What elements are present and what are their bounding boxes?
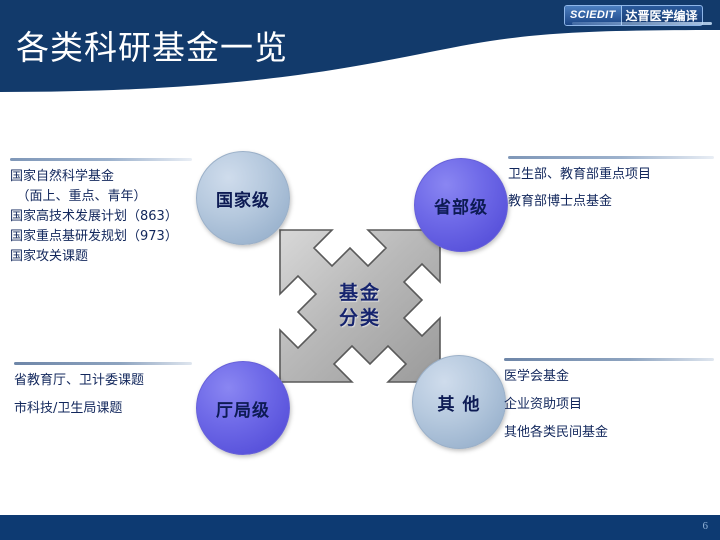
node-guojiaji[interactable]: 国家级 <box>196 151 290 245</box>
text-line: 国家自然科学基金 <box>10 167 192 187</box>
text-line: 国家重点基研发规划（973） <box>10 227 192 247</box>
text-line: 省教育厅、卫计委课题 <box>14 371 192 391</box>
node-qita-label: 其 他 <box>438 390 481 415</box>
text-line: 卫生部、教育部重点项目 <box>508 165 714 185</box>
text-line: 国家高技术发展计划（863） <box>10 207 192 227</box>
brand-logo: SCIEDIT 达晋医学编译 <box>564 2 714 28</box>
divider-top-left <box>10 158 192 161</box>
page-number: 6 <box>703 520 709 532</box>
divider-bottom-left <box>14 362 192 365</box>
text-line: 国家攻关课题 <box>10 247 192 267</box>
node-tingjuji-label: 厅局级 <box>216 396 270 421</box>
text-block-bottom-left: 省教育厅、卫计委课题 市科技/卫生局课题 <box>14 362 192 427</box>
divider-top-right <box>508 156 714 159</box>
divider-bottom-right <box>504 358 714 361</box>
logo-underline <box>572 22 712 25</box>
text-line: 医学会基金 <box>504 367 714 387</box>
node-shengbuji[interactable]: 省部级 <box>414 158 508 252</box>
text-line: 企业资助项目 <box>504 395 714 415</box>
text-line: 市科技/卫生局课题 <box>14 399 192 419</box>
text-block-top-left: 国家自然科学基金 （面上、重点、青年） 国家高技术发展计划（863） 国家重点基… <box>10 158 192 267</box>
text-line: 其他各类民间基金 <box>504 423 714 443</box>
node-tingjuji[interactable]: 厅局级 <box>196 361 290 455</box>
node-shengbuji-label: 省部级 <box>434 193 488 218</box>
slide-canvas: 各类科研基金一览 SCIEDIT 达晋医学编译 基金 分类 国家级 <box>0 0 720 540</box>
text-line: （面上、重点、青年） <box>10 187 192 207</box>
page-title: 各类科研基金一览 <box>16 28 288 68</box>
text-line: 教育部博士点基金 <box>508 192 714 212</box>
text-block-bottom-right: 医学会基金 企业资助项目 其他各类民间基金 <box>504 358 714 451</box>
footer-bar: 6 <box>0 515 720 540</box>
node-qita[interactable]: 其 他 <box>412 355 506 449</box>
node-guojiaji-label: 国家级 <box>216 186 270 211</box>
text-block-top-right: 卫生部、教育部重点项目 教育部博士点基金 <box>508 156 714 219</box>
center-quad-arrow: 基金 分类 <box>278 228 442 384</box>
